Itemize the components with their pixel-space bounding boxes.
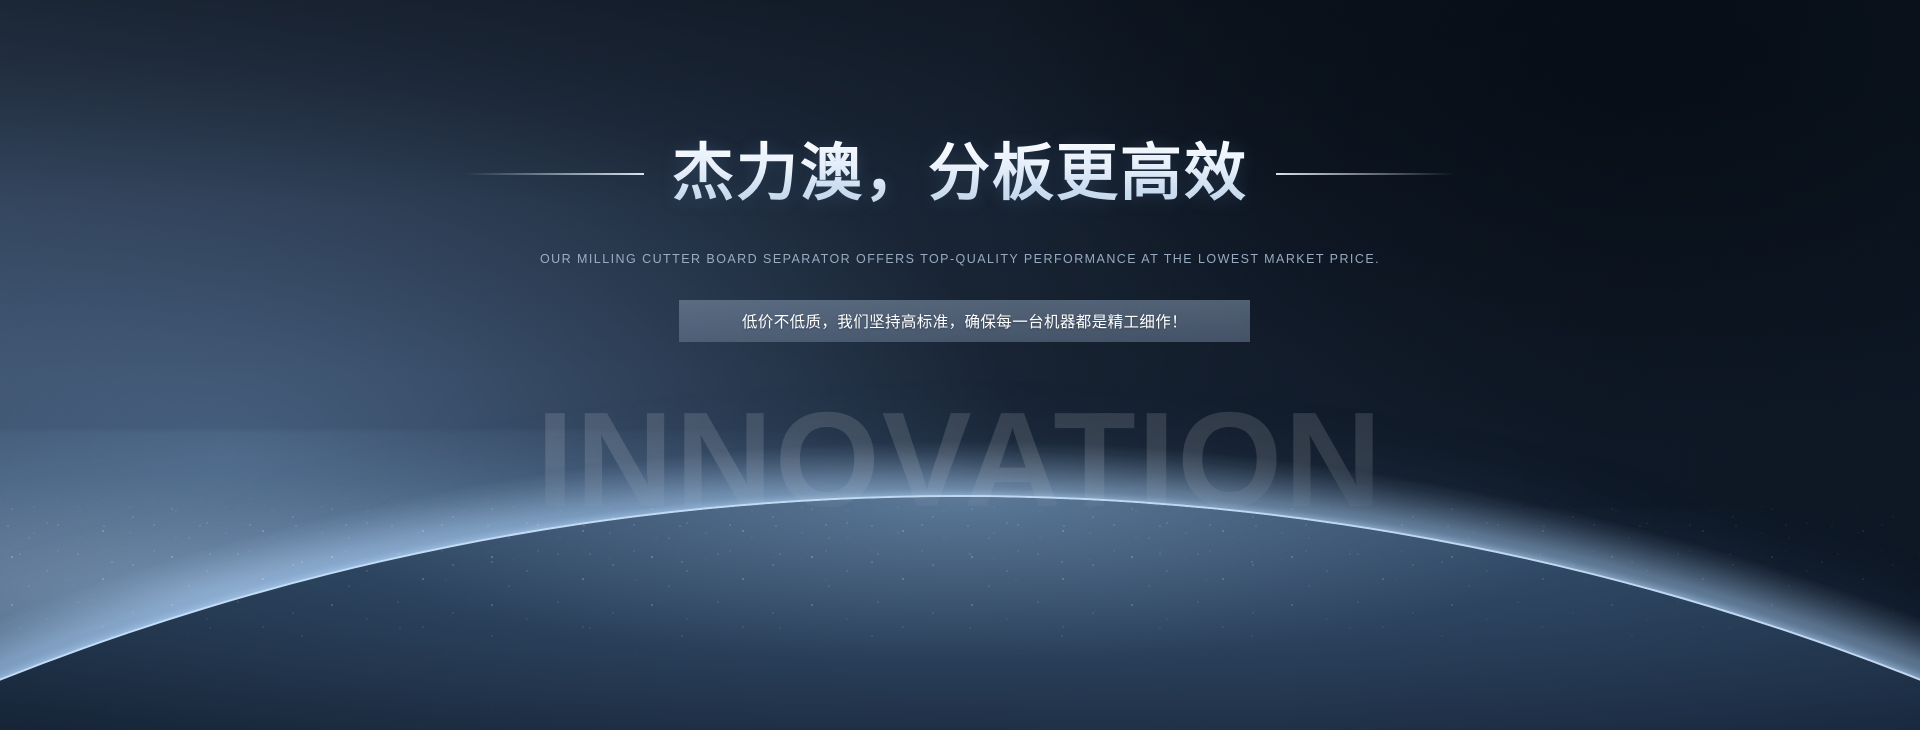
hero-banner: INNOVATION 杰力澳，分板更高效 OUR MILLING CUTTER … <box>0 0 1920 730</box>
hero-subtitle: OUR MILLING CUTTER BOARD SEPARATOR OFFER… <box>0 252 1920 266</box>
headline-row: 杰力澳，分板更高效 <box>0 140 1920 208</box>
headline-rule-left-icon <box>466 173 644 175</box>
promo-banner-text: 低价不低质，我们坚持高标准，确保每一台机器都是精工细作！ <box>742 310 1187 332</box>
promo-banner: 低价不低质，我们坚持高标准，确保每一台机器都是精工细作！ <box>679 300 1250 342</box>
headline-rule-right-icon <box>1276 173 1454 175</box>
page-title: 杰力澳，分板更高效 <box>672 140 1248 208</box>
hero-content: 杰力澳，分板更高效 OUR MILLING CUTTER BOARD SEPAR… <box>0 0 1920 730</box>
